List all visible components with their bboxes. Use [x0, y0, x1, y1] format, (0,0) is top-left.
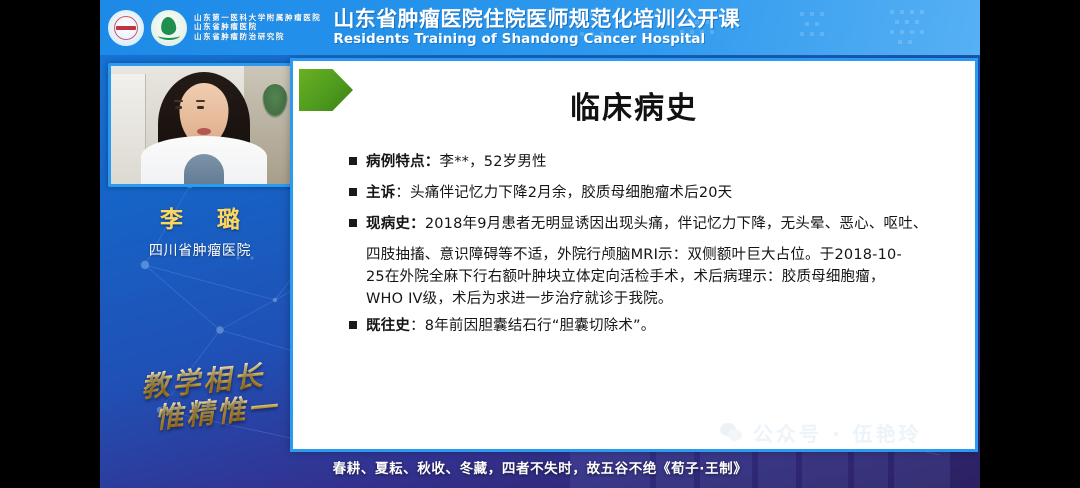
letterbox-right	[980, 0, 1080, 488]
continuation-line-1: 四肢抽搐、意识障碍等不适，外院行颅脑MRI示：双侧额叶巨大占位。于2018-10…	[349, 244, 957, 266]
bullet-item-case-features: 病例特点：李**，52岁男性	[349, 151, 957, 173]
bullet-square-icon	[349, 157, 357, 165]
slide-body: 病例特点：李**，52岁男性 主诉：头痛伴记忆力下降2月余，胶质母细胞瘤术后20…	[349, 151, 957, 346]
bullet-square-icon	[349, 188, 357, 196]
speaker-mouth	[197, 128, 211, 135]
broadcast-header-bar: 山东第一医科大学附属肿瘤医院 山东省肿瘤医院 山东省肿瘤防治研究院 山东省肿瘤医…	[100, 0, 980, 55]
speaker-eyebrow-left	[174, 100, 183, 102]
speaker-panel: 李 璐 四川省肿瘤医院 教学相长 惟精惟一	[100, 55, 300, 488]
continuation-text: 四肢抽搐、意识障碍等不适，外院行颅脑MRI示：双侧额叶巨大占位。	[366, 247, 820, 263]
speaker-white-coat	[141, 136, 267, 187]
bullet-value: 2018年9月患者无明显诱因出现头痛，伴记忆力下降，无头晕、恶心、呕吐、	[425, 216, 928, 232]
bullet-text: 现病史：2018年9月患者无明显诱因出现头痛，伴记忆力下降，无头晕、恶心、呕吐、	[366, 213, 928, 235]
bullet-item-chief-complaint: 主诉：头痛伴记忆力下降2月余，胶质母细胞瘤术后20天	[349, 182, 957, 204]
continuation-highlight-end: 25在外院全麻下行右额叶肿块立体定向活检手术	[366, 269, 679, 285]
continuation-text: ，术后病理示：胶质母细胞瘤，	[679, 269, 885, 285]
speaker-eye-right	[197, 106, 204, 109]
bullet-square-icon	[349, 219, 357, 227]
bullet-text: 病例特点：李**，52岁男性	[366, 151, 547, 173]
video-player-screen: 山东第一医科大学附属肿瘤医院 山东省肿瘤医院 山东省肿瘤防治研究院 山东省肿瘤医…	[0, 0, 1080, 488]
video-stage: 山东第一医科大学附属肿瘤医院 山东省肿瘤医院 山东省肿瘤防治研究院 山东省肿瘤医…	[100, 0, 980, 488]
speaker-eye-left	[175, 106, 182, 109]
bullet-square-icon	[349, 321, 357, 329]
bullet-text: 既往史：8年前因胆囊结石行“胆囊切除术”。	[366, 315, 655, 337]
hospital-name-lines: 山东第一医科大学附属肿瘤医院 山东省肿瘤医院 山东省肿瘤防治研究院	[194, 14, 321, 42]
hospital-seal-logo-icon	[108, 10, 144, 46]
speaker-info: 李 璐 四川省肿瘤医院	[100, 200, 300, 260]
bullet-value: 李**，52岁男性	[440, 154, 547, 170]
bullet-text-block: 现病史：2018年9月患者无明显诱因出现头痛，伴记忆力下降，无头晕、恶心、呕吐、	[366, 213, 928, 235]
presentation-slide[interactable]: 临床病史 病例特点：李**，52岁男性 主诉：头痛伴记忆力下降2月余，胶质母细胞…	[290, 58, 978, 452]
speaker-inner-shirt	[184, 154, 224, 187]
present-illness-continuation: 四肢抽搐、意识障碍等不适，外院行颅脑MRI示：双侧额叶巨大占位。于2018-10…	[349, 244, 957, 310]
speaker-organization: 四川省肿瘤医院	[100, 240, 300, 260]
header-content: 山东第一医科大学附属肿瘤医院 山东省肿瘤医院 山东省肿瘤防治研究院 山东省肿瘤医…	[108, 0, 740, 55]
bullet-label: 病例特点：	[366, 154, 440, 170]
slide-title: 临床病史	[293, 83, 975, 127]
letterbox-left	[0, 0, 100, 488]
speaker-eyebrow-right	[196, 100, 205, 102]
cancer-hospital-logo-icon	[151, 10, 187, 46]
hospital-line-3: 山东省肿瘤防治研究院	[194, 33, 321, 42]
header-title-chinese: 山东省肿瘤医院住院医师规范化培训公开课	[333, 9, 740, 30]
bullet-item-present-illness: 现病史：2018年9月患者无明显诱因出现头痛，伴记忆力下降，无头晕、恶心、呕吐、	[349, 213, 957, 235]
bullet-text: 主诉：头痛伴记忆力下降2月余，胶质母细胞瘤术后20天	[366, 182, 732, 204]
continuation-line-3: WHO IV级，术后为求进一步治疗就诊于我院。	[349, 288, 957, 310]
footer-quote-text: 春耕、夏耘、秋收、冬藏，四者不失时，故五谷不绝《荀子·王制》	[333, 457, 748, 477]
hospital-line-1: 山东第一医科大学附属肿瘤医院	[194, 14, 321, 23]
speaker-name: 李 璐	[100, 200, 300, 234]
bullet-item-past-history: 既往史：8年前因胆囊结石行“胆囊切除术”。	[349, 315, 957, 337]
continuation-highlight-start: 于2018-10-	[820, 247, 902, 263]
bullet-value: ：8年前因胆囊结石行“胆囊切除术”。	[410, 318, 655, 334]
bullet-label: 既往史	[366, 318, 410, 334]
footer-quote-bar: 春耕、夏耘、秋收、冬藏，四者不失时，故五谷不绝《荀子·王制》	[100, 446, 980, 488]
speaker-webcam-feed[interactable]	[108, 63, 299, 187]
bullet-value: ：头痛伴记忆力下降2月余，胶质母细胞瘤术后20天	[395, 185, 732, 201]
bullet-label: 主诉	[366, 185, 395, 201]
webcam-plant	[262, 84, 288, 118]
header-titles: 山东省肿瘤医院住院医师规范化培训公开课 Residents Training o…	[333, 9, 740, 47]
continuation-line-2: 25在外院全麻下行右额叶肿块立体定向活检手术，术后病理示：胶质母细胞瘤，	[349, 266, 957, 288]
bullet-label: 现病史：	[366, 216, 425, 232]
calligraphy-motto: 教学相长 惟精惟一	[108, 367, 298, 428]
hospital-line-2: 山东省肿瘤医院	[194, 23, 321, 32]
header-title-english: Residents Training of Shandong Cancer Ho…	[333, 33, 740, 47]
